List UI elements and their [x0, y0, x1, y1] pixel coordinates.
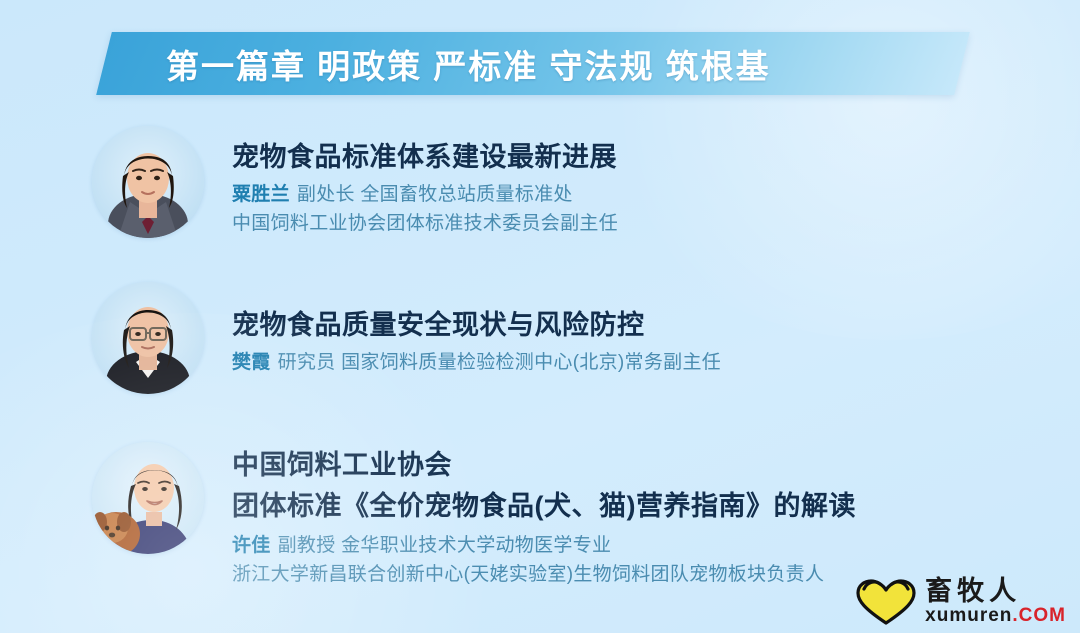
- speaker-photo-su-shenglan: [92, 126, 204, 238]
- speaker-credential-line: 粟胜兰副处长 全国畜牧总站质量标准处: [232, 181, 618, 210]
- speaker-name: 樊霞: [232, 352, 271, 373]
- talk-title: 宠物食品标准体系建设最新进展: [232, 140, 618, 175]
- speaker-credential-line: 樊霞研究员 国家饲料质量检验检测中心(北京)常务副主任: [232, 349, 721, 378]
- logo-text-block: 畜牧人 xumuren.COM: [925, 578, 1066, 625]
- chapter-banner-title: 第一篇章 明政策 严标准 守法规 筑根基: [166, 40, 771, 88]
- speaker-meta-text: 研究员 国家饲料质量检验检测中心(北京)常务副主任: [278, 352, 721, 373]
- speaker-row: 中国饲料工业协会 团体标准《全价宠物食品(犬、猫)营养指南》的解读 许佳副教授 …: [0, 424, 1080, 594]
- logo-chinese-name: 畜牧人: [925, 578, 1066, 605]
- logo-domain-name: xumuren: [925, 605, 1012, 626]
- speaker-name: 许佳: [232, 535, 271, 556]
- talk-title: 中国饲料工业协会: [232, 448, 856, 483]
- speaker-text-column: 宠物食品标准体系建设最新进展 粟胜兰副处长 全国畜牧总站质量标准处 中国饲料工业…: [232, 112, 618, 239]
- avatar-portrait-icon: [92, 282, 204, 394]
- talk-title: 宠物食品质量安全现状与风险防控: [232, 308, 721, 343]
- heart-logo-icon: [855, 579, 917, 625]
- speaker-photo-fan-xia: [92, 282, 204, 394]
- speaker-meta-text: 副教授 金华职业技术大学动物医学专业: [278, 535, 612, 556]
- speaker-credential-line: 许佳副教授 金华职业技术大学动物医学专业: [232, 532, 856, 561]
- speaker-meta-text: 副处长 全国畜牧总站质量标准处: [297, 184, 573, 205]
- site-logo[interactable]: 畜牧人 xumuren.COM: [855, 578, 1066, 625]
- speaker-photo-xu-jia: [92, 442, 204, 554]
- speaker-affiliation-line: 浙江大学新昌联合创新中心(天姥实验室)生物饲料团队宠物板块负责人: [232, 561, 856, 590]
- logo-domain-tld: .COM: [1012, 605, 1066, 626]
- speaker-row: 宠物食品质量安全现状与风险防控 樊霞研究员 国家饲料质量检验检测中心(北京)常务…: [0, 272, 1080, 424]
- chapter-banner: 第一篇章 明政策 严标准 守法规 筑根基: [96, 32, 970, 95]
- talk-title-second-line: 团体标准《全价宠物食品(犬、猫)营养指南》的解读: [232, 489, 856, 524]
- speaker-row: 宠物食品标准体系建设最新进展 粟胜兰副处长 全国畜牧总站质量标准处 中国饲料工业…: [0, 112, 1080, 272]
- speaker-affiliation-line: 中国饲料工业协会团体标准技术委员会副主任: [232, 210, 618, 239]
- speaker-list: 宠物食品标准体系建设最新进展 粟胜兰副处长 全国畜牧总站质量标准处 中国饲料工业…: [0, 112, 1080, 594]
- slide-root: 第一篇章 明政策 严标准 守法规 筑根基: [0, 0, 1080, 633]
- speaker-text-column: 中国饲料工业协会 团体标准《全价宠物食品(犬、猫)营养指南》的解读 许佳副教授 …: [232, 424, 856, 590]
- speaker-text-column: 宠物食品质量安全现状与风险防控 樊霞研究员 国家饲料质量检验检测中心(北京)常务…: [232, 272, 721, 378]
- speaker-name: 粟胜兰: [232, 184, 290, 205]
- avatar-portrait-icon: [92, 126, 204, 238]
- chapter-banner-inner: 第一篇章 明政策 严标准 守法规 筑根基: [104, 32, 962, 95]
- logo-domain: xumuren.COM: [925, 606, 1066, 625]
- avatar-portrait-with-dog-icon: [92, 442, 204, 554]
